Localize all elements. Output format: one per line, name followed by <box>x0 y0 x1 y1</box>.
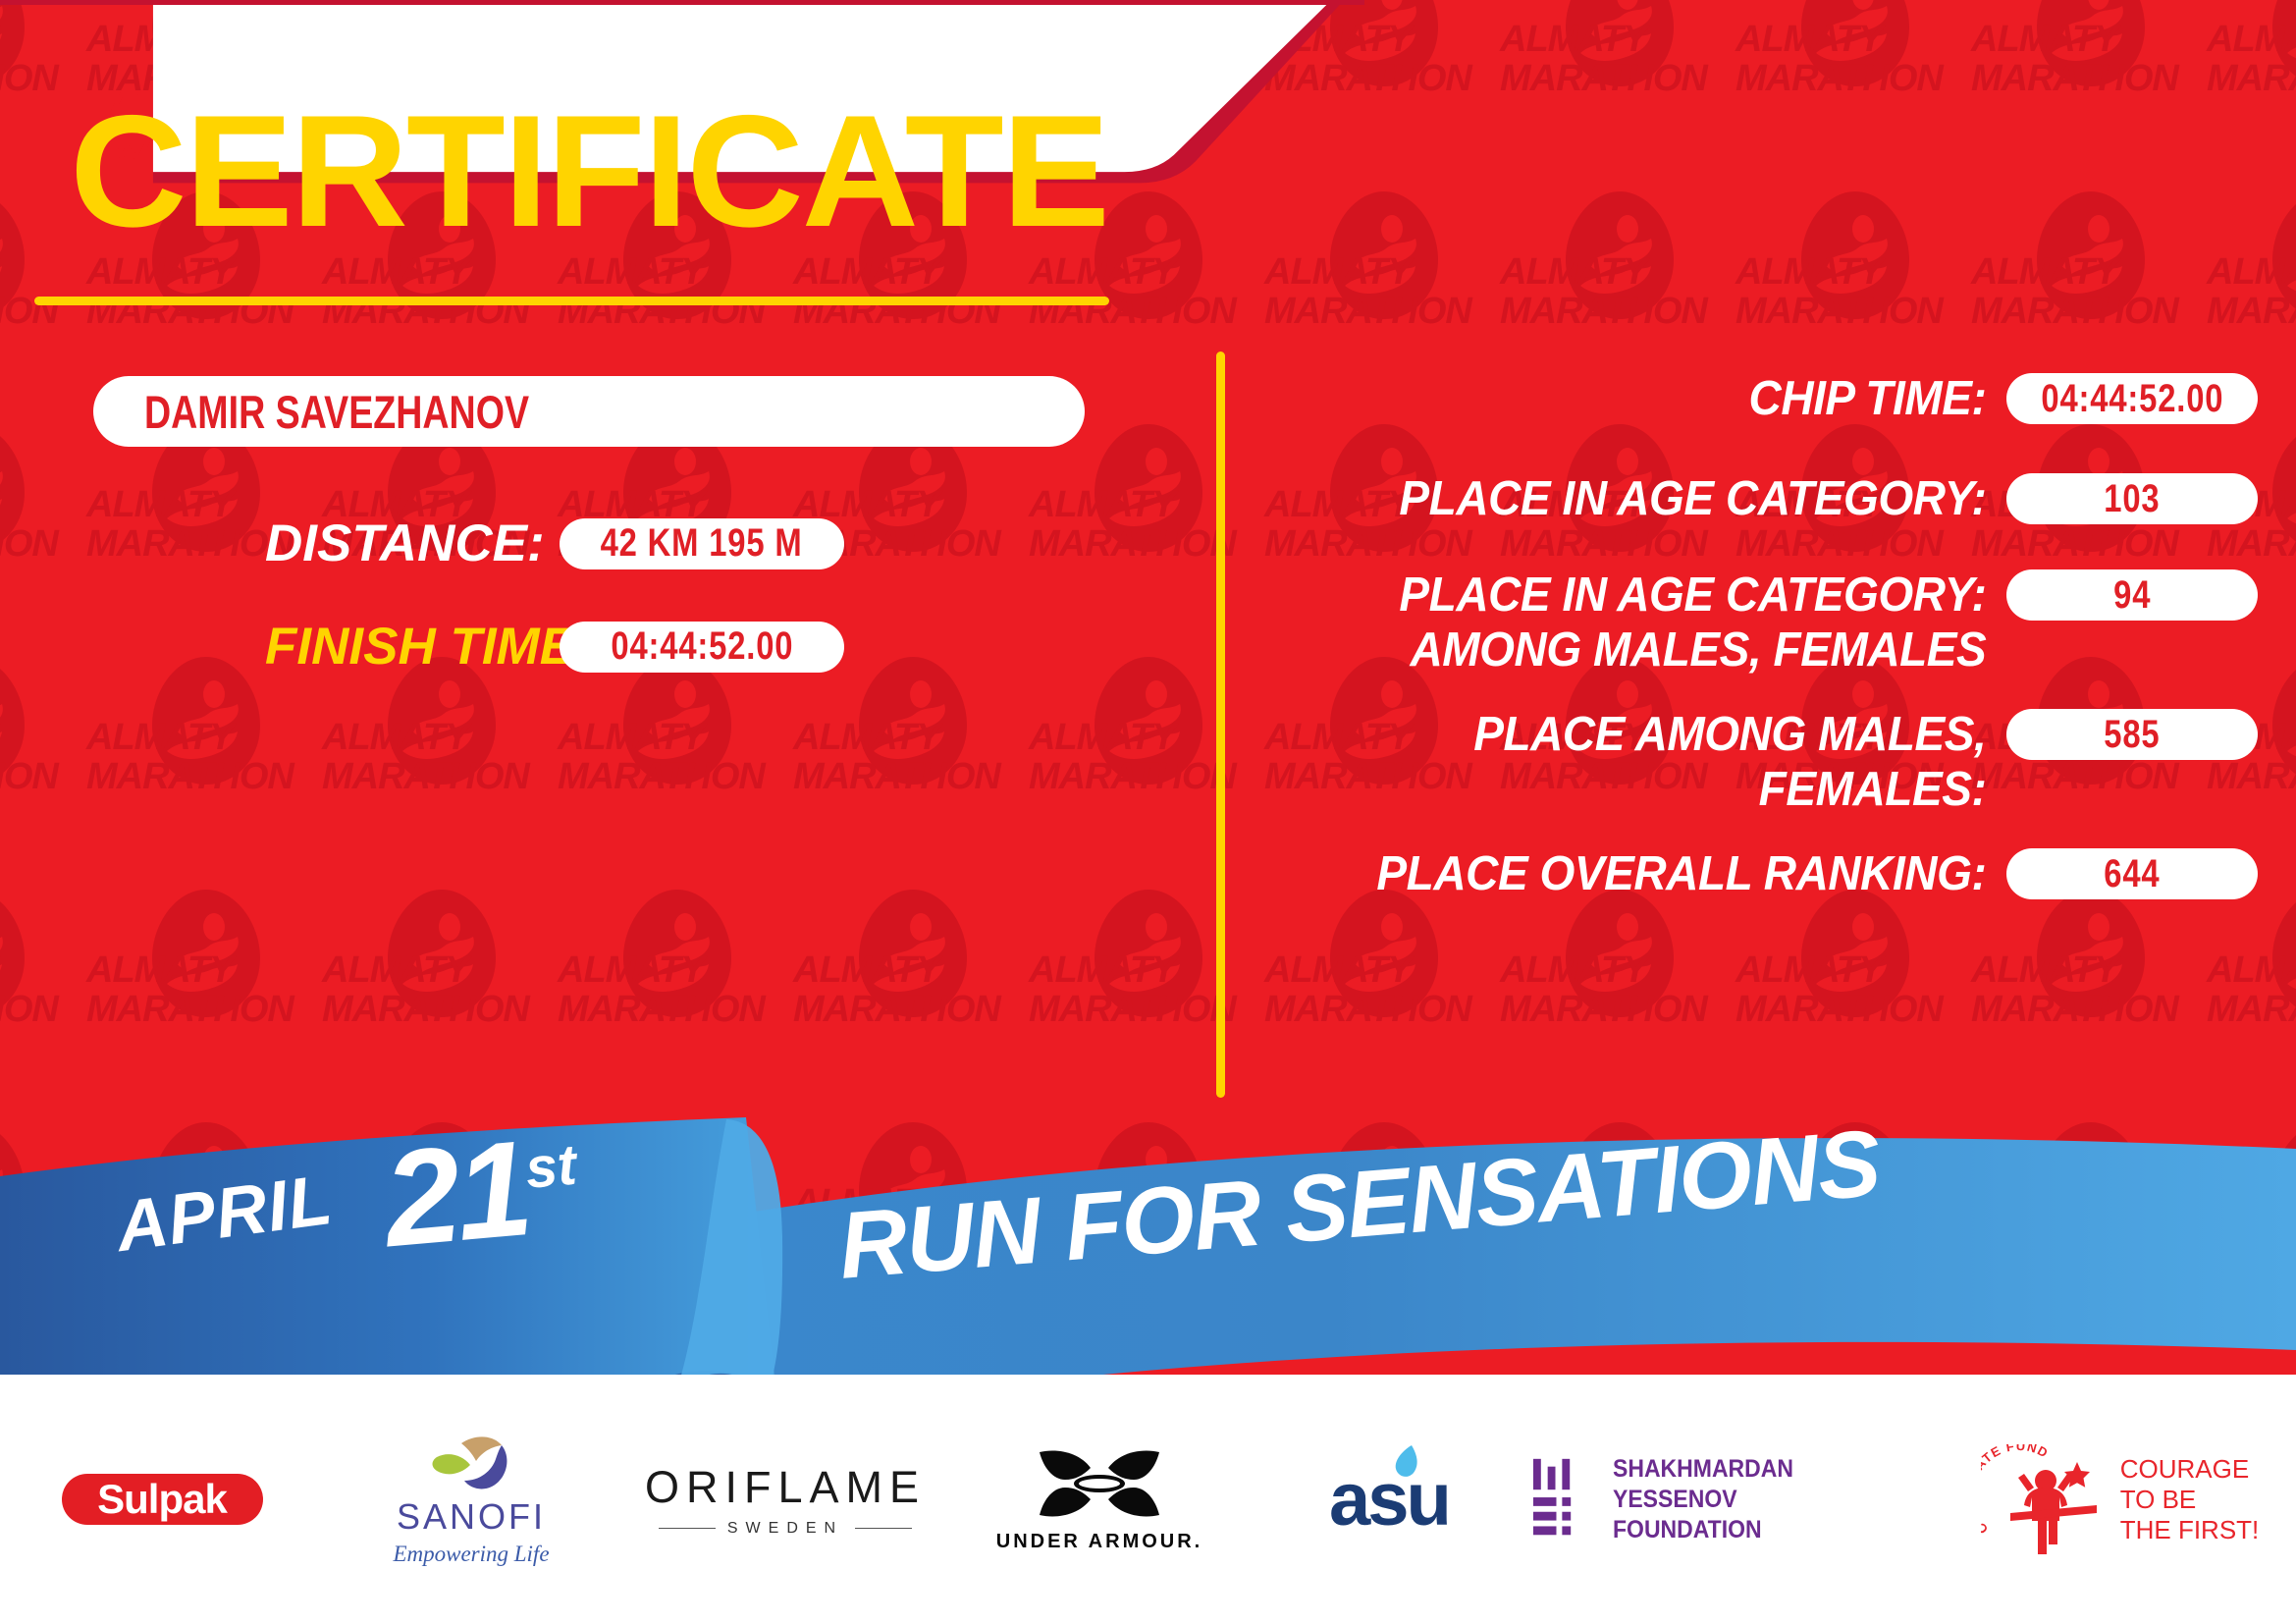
result-label: CHIP TIME: <box>1310 371 2006 426</box>
result-value: 04:44:52.00 <box>2041 377 2223 421</box>
column-divider <box>1216 352 1225 1098</box>
oriflame-sweden-label: SWEDEN <box>727 1520 843 1538</box>
finish-time-value-pill: 04:44:52.00 <box>560 622 844 673</box>
asu-wordmark: asu <box>1329 1458 1449 1542</box>
sponsor-courage-fund: CORPORATE FUND COURAGE TO BE THE FIRST! <box>1944 1421 2296 1578</box>
oriflame-rule-left <box>659 1528 716 1529</box>
result-row: CHIP TIME: 04:44:52.00 <box>1266 371 2258 426</box>
finish-time-label: FINISH TIME: <box>265 617 560 677</box>
ribbon-day-suffix: st <box>523 1133 579 1201</box>
result-value-pill: 103 <box>2006 473 2258 524</box>
sponsor-oriflame: ORIFLAME SWEDEN <box>618 1421 952 1578</box>
finish-time-row: FINISH TIME: 04:44:52.00 <box>265 617 1158 677</box>
sulpak-logo: Sulpak <box>62 1474 263 1525</box>
sanofi-wordmark: SANOFI <box>397 1496 546 1538</box>
result-value: 585 <box>2104 713 2160 757</box>
result-label: PLACE AMONG MALES, FEMALES: <box>1310 707 2006 817</box>
result-value: 94 <box>2113 573 2151 618</box>
courage-wordmark: COURAGE TO BE THE FIRST! <box>2120 1454 2260 1545</box>
courage-runner-icon: CORPORATE FUND <box>1981 1444 2107 1554</box>
result-row: PLACE OVERALL RANKING: 644 <box>1266 846 2258 901</box>
ribbon-day: 21st <box>378 1107 584 1279</box>
result-value-pill: 94 <box>2006 569 2258 621</box>
under-armour-icon <box>1036 1446 1163 1523</box>
sponsor-sanofi: SANOFI Empowering Life <box>324 1421 618 1578</box>
title-divider <box>34 297 1109 305</box>
top-accent-line <box>0 0 1364 5</box>
yessenov-bars-icon <box>1531 1456 1591 1543</box>
ribbon-day-number: 21 <box>379 1112 534 1275</box>
result-value-pill: 585 <box>2006 709 2258 760</box>
result-value-pill: 04:44:52.00 <box>2006 373 2258 424</box>
participant-name: DAMIR SAVEZHANOV <box>144 385 529 439</box>
sponsor-yessenov-foundation: SHAKHMARDAN YESSENOV FOUNDATION <box>1531 1421 1944 1578</box>
result-row: PLACE IN AGE CATEGORY: 103 <box>1266 471 2258 526</box>
distance-label: DISTANCE: <box>265 514 560 573</box>
result-value-pill: 644 <box>2006 848 2258 899</box>
sponsor-sulpak: Sulpak <box>0 1421 324 1578</box>
sanofi-icon <box>429 1432 513 1492</box>
result-label: PLACE OVERALL RANKING: <box>1310 846 2006 901</box>
result-label: PLACE IN AGE CATEGORY: <box>1310 471 2006 526</box>
result-row: PLACE AMONG MALES, FEMALES: 585 <box>1266 707 2258 817</box>
result-label: PLACE IN AGE CATEGORY: AMONG MALES, FEMA… <box>1310 568 2006 677</box>
result-row: PLACE IN AGE CATEGORY: AMONG MALES, FEMA… <box>1266 568 2258 677</box>
yessenov-wordmark: SHAKHMARDAN YESSENOV FOUNDATION <box>1613 1454 1917 1545</box>
oriflame-rule-right <box>855 1528 912 1529</box>
results-panel: CHIP TIME: 04:44:52.00 PLACE IN AGE CATE… <box>1266 371 2258 901</box>
page-title: CERTIFICATE <box>8 98 1169 245</box>
sponsor-bar: Sulpak SANOFI Empowering Life ORIFLAME S… <box>0 1375 2296 1624</box>
finish-time-value: 04:44:52.00 <box>611 624 793 669</box>
distance-value: 42 KM 195 M <box>601 521 803 566</box>
result-value: 103 <box>2104 477 2160 521</box>
certificate-left-panel: CERTIFICATE DAMIR SAVEZHANOV DISTANCE: 4… <box>0 98 1158 677</box>
asu-drop-icon <box>1390 1443 1423 1483</box>
sponsor-under-armour: UNDER ARMOUR. <box>952 1421 1247 1578</box>
distance-row: DISTANCE: 42 KM 195 M <box>265 514 1158 573</box>
participant-name-field: DAMIR SAVEZHANOV <box>93 376 1085 447</box>
result-value: 644 <box>2104 852 2160 896</box>
certificate-page: ALMATY MARATHON <box>0 0 2296 1624</box>
oriflame-wordmark: ORIFLAME <box>645 1462 926 1513</box>
sponsor-asu: asu <box>1247 1421 1531 1578</box>
distance-value-pill: 42 KM 195 M <box>560 518 844 569</box>
under-armour-wordmark: UNDER ARMOUR. <box>996 1531 1202 1553</box>
sanofi-tagline: Empowering Life <box>393 1542 549 1567</box>
